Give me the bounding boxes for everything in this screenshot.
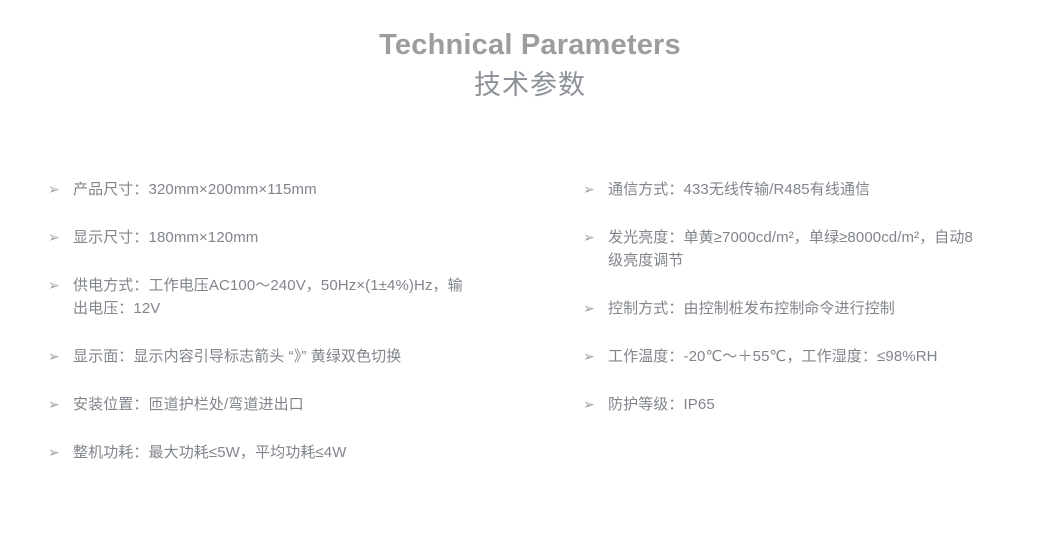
technical-parameters-page: Technical Parameters 技术参数 ➢ 产品尺寸：320mm×2…	[0, 0, 1060, 535]
page-title-chinese: 技术参数	[0, 64, 1060, 104]
page-title-block: Technical Parameters 技术参数	[0, 26, 1060, 104]
arrow-bullet-icon: ➢	[48, 226, 64, 249]
spec-columns: ➢ 产品尺寸：320mm×200mm×115mm ➢ 显示尺寸：180mm×12…	[0, 178, 1060, 508]
arrow-bullet-icon: ➢	[583, 178, 599, 201]
spec-item-text: 通信方式：433无线传输/R485有线通信	[608, 178, 1023, 201]
spec-item-display-face: ➢ 显示面：显示内容引导标志箭头 “》” 黄绿双色切换	[48, 345, 548, 368]
spec-column-right: ➢ 通信方式：433无线传输/R485有线通信 ➢ 发光亮度：单黄≥7000cd…	[583, 178, 1023, 441]
spec-item-power-supply: ➢ 供电方式：工作电压AC100～240V，50Hz×(1±4%)Hz，输 出电…	[48, 274, 548, 320]
spec-item-text: 控制方式：由控制桩发布控制命令进行控制	[608, 297, 1023, 320]
spec-item-text: 防护等级：IP65	[608, 393, 1023, 416]
arrow-bullet-icon: ➢	[48, 178, 64, 201]
arrow-bullet-icon: ➢	[48, 274, 64, 297]
spec-item-text: 安装位置：匝道护栏处/弯道进出口	[73, 393, 548, 416]
spec-item-text: 发光亮度：单黄≥7000cd/m²，单绿≥8000cd/m²，自动8 级亮度调节	[608, 226, 1023, 272]
spec-item-install-location: ➢ 安装位置：匝道护栏处/弯道进出口	[48, 393, 548, 416]
spec-item-text: 产品尺寸：320mm×200mm×115mm	[73, 178, 548, 201]
spec-item-text: 整机功耗：最大功耗≤5W，平均功耗≤4W	[73, 441, 548, 464]
spec-item-operating-temperature: ➢ 工作温度：-20℃～＋55℃，工作湿度：≤98%RH	[583, 345, 1023, 368]
spec-item-text: 显示面：显示内容引导标志箭头 “》” 黄绿双色切换	[73, 345, 548, 368]
spec-item-display-size: ➢ 显示尺寸：180mm×120mm	[48, 226, 548, 249]
spec-item-luminance: ➢ 发光亮度：单黄≥7000cd/m²，单绿≥8000cd/m²，自动8 级亮度…	[583, 226, 1023, 272]
arrow-bullet-icon: ➢	[48, 441, 64, 464]
spec-item-power-consumption: ➢ 整机功耗：最大功耗≤5W，平均功耗≤4W	[48, 441, 548, 464]
spec-item-product-size: ➢ 产品尺寸：320mm×200mm×115mm	[48, 178, 548, 201]
spec-item-ingress-protection: ➢ 防护等级：IP65	[583, 393, 1023, 416]
arrow-bullet-icon: ➢	[48, 345, 64, 368]
spec-item-communication: ➢ 通信方式：433无线传输/R485有线通信	[583, 178, 1023, 201]
spec-item-text: 显示尺寸：180mm×120mm	[73, 226, 548, 249]
spec-column-left: ➢ 产品尺寸：320mm×200mm×115mm ➢ 显示尺寸：180mm×12…	[48, 178, 548, 489]
page-title-english: Technical Parameters	[0, 26, 1060, 64]
arrow-bullet-icon: ➢	[48, 393, 64, 416]
spec-item-control-mode: ➢ 控制方式：由控制桩发布控制命令进行控制	[583, 297, 1023, 320]
arrow-bullet-icon: ➢	[583, 226, 599, 249]
arrow-bullet-icon: ➢	[583, 345, 599, 368]
spec-item-text: 供电方式：工作电压AC100～240V，50Hz×(1±4%)Hz，输 出电压：…	[73, 274, 548, 320]
spec-item-text: 工作温度：-20℃～＋55℃，工作湿度：≤98%RH	[608, 345, 1023, 368]
arrow-bullet-icon: ➢	[583, 297, 599, 320]
arrow-bullet-icon: ➢	[583, 393, 599, 416]
